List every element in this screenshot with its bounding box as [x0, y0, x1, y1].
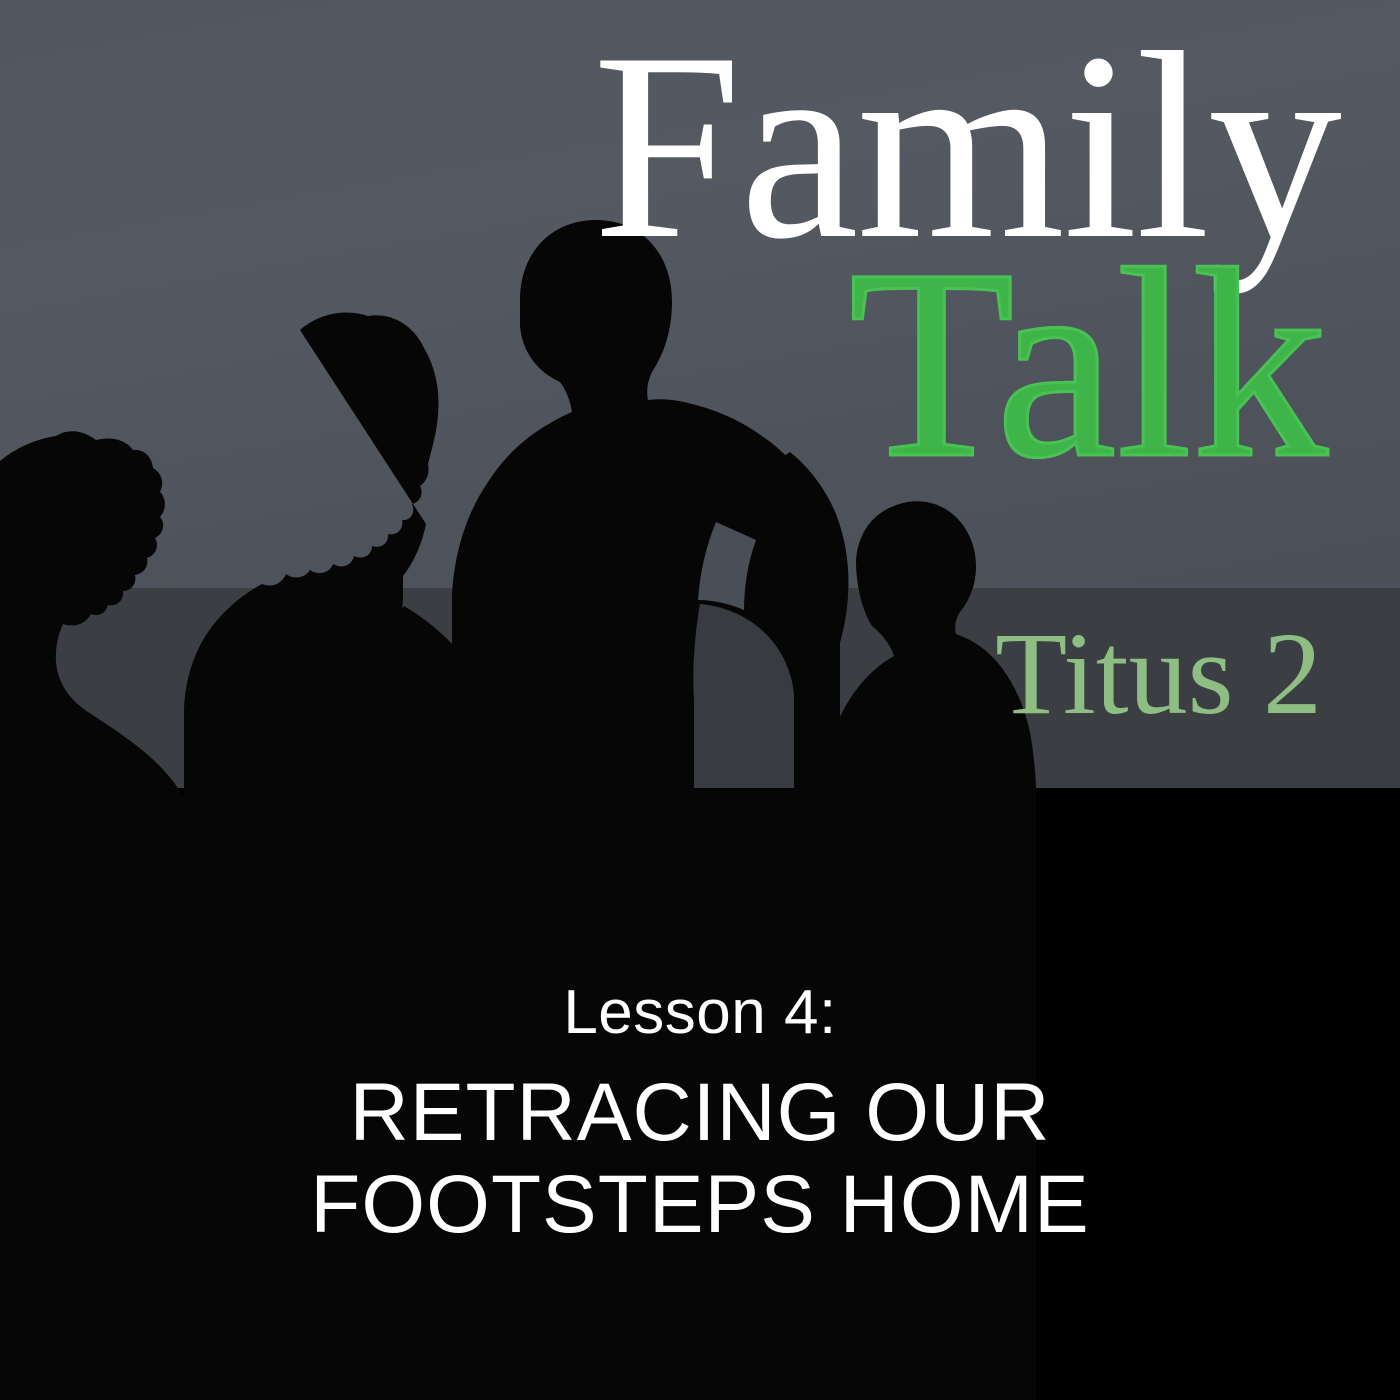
lesson-title: RETRACING OUR FOOTSTEPS HOME [0, 1067, 1400, 1252]
lesson-title-line-2: FOOTSTEPS HOME [150, 1159, 1250, 1252]
lesson-text-block: Lesson 4: RETRACING OUR FOOTSTEPS HOME [0, 975, 1400, 1252]
brand-logo-lockup: Family Talk [0, 0, 1400, 520]
brand-word-talk: Talk [849, 228, 1328, 500]
lesson-title-line-1: RETRACING OUR [150, 1067, 1250, 1160]
podcast-cover-art: Family Talk Titus 2 Lesson 4: RETRACING … [0, 0, 1400, 1400]
scripture-reference: Titus 2 [995, 612, 1322, 736]
lesson-number-label: Lesson 4: [0, 975, 1400, 1051]
